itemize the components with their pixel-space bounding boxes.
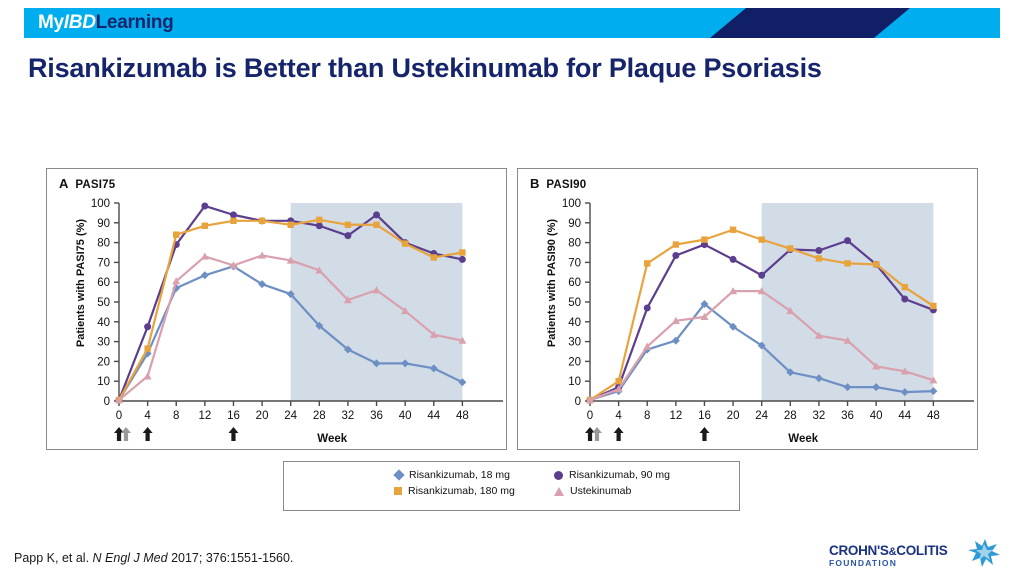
svg-text:20: 20 <box>97 356 110 368</box>
legend-item-ustekinumab: Ustekinumab <box>554 485 719 497</box>
citation-details: 2017; 376:1551-1560. <box>171 551 293 565</box>
legend-label: Risankizumab, 18 mg <box>409 469 510 481</box>
svg-text:40: 40 <box>399 410 412 422</box>
svg-text:60: 60 <box>568 277 581 289</box>
svg-text:0: 0 <box>104 396 110 408</box>
svg-text:8: 8 <box>173 410 179 422</box>
svg-text:90: 90 <box>568 218 581 230</box>
svg-text:44: 44 <box>898 410 911 422</box>
dose-arrow-icon <box>121 427 131 441</box>
svg-text:100: 100 <box>91 198 110 210</box>
svg-text:24: 24 <box>755 410 768 422</box>
footer-logo-text: CROHN'S&COLITIS FOUNDATION <box>829 544 947 567</box>
square-marker-icon <box>394 487 402 495</box>
svg-text:50: 50 <box>568 297 581 309</box>
dose-arrow-icon <box>143 427 153 441</box>
svg-text:40: 40 <box>870 410 883 422</box>
svg-text:36: 36 <box>370 410 383 422</box>
legend-item-risankizumab-90mg: Risankizumab, 90 mg <box>554 469 719 481</box>
svg-text:20: 20 <box>568 356 581 368</box>
legend-entries: Risankizumab, 18 mg Risankizumab, 90 mg … <box>394 469 719 497</box>
svg-text:32: 32 <box>342 410 355 422</box>
svg-text:8: 8 <box>644 410 650 422</box>
svg-text:60: 60 <box>97 277 110 289</box>
panel-a-plot: 0102030405060708090100048121620242832364… <box>47 169 508 451</box>
dose-arrow-icon <box>228 427 238 441</box>
svg-text:12: 12 <box>198 410 211 422</box>
svg-text:90: 90 <box>97 218 110 230</box>
svg-text:28: 28 <box>313 410 326 422</box>
citation-journal: N Engl J Med <box>93 551 168 565</box>
header-navy-accent-shape <box>710 8 910 38</box>
svg-text:80: 80 <box>568 238 581 250</box>
svg-text:0: 0 <box>116 410 122 422</box>
chart-panel-pasi90: BPASI90 Patients with PASI90 (%) 0102030… <box>517 168 978 450</box>
page-title: Risankizumab is Better than Ustekinumab … <box>28 52 908 86</box>
svg-text:36: 36 <box>841 410 854 422</box>
footer-logo-colitis: COLITIS <box>896 543 947 558</box>
svg-text:16: 16 <box>698 410 711 422</box>
header-banner: MyIBDLearning <box>24 8 1000 38</box>
crohns-colitis-foundation-logo: CROHN'S&COLITIS FOUNDATION <box>829 538 1005 572</box>
chart-legend: Risankizumab, 18 mg Risankizumab, 90 mg … <box>283 461 740 511</box>
svg-text:48: 48 <box>927 410 940 422</box>
panel-a-x-axis-label: Week <box>317 433 347 445</box>
svg-text:100: 100 <box>562 198 581 210</box>
svg-text:50: 50 <box>97 297 110 309</box>
dose-arrow-icon <box>114 427 124 441</box>
dose-arrow-icon <box>592 427 602 441</box>
maintenance-period-shading <box>291 203 463 401</box>
svg-text:70: 70 <box>568 257 581 269</box>
svg-text:28: 28 <box>784 410 797 422</box>
brand-logo-learning: Learning <box>96 12 174 33</box>
chart-panel-pasi75: APASI75 Patients with PASI75 (%) 0102030… <box>46 168 507 450</box>
svg-text:10: 10 <box>97 376 110 388</box>
svg-text:20: 20 <box>256 410 269 422</box>
circle-marker-icon <box>554 471 563 480</box>
legend-label: Risankizumab, 90 mg <box>569 469 670 481</box>
svg-text:48: 48 <box>456 410 469 422</box>
diamond-marker-icon <box>393 469 404 480</box>
svg-text:30: 30 <box>97 337 110 349</box>
svg-text:20: 20 <box>727 410 740 422</box>
legend-label: Risankizumab, 180 mg <box>408 485 515 497</box>
svg-text:32: 32 <box>813 410 826 422</box>
footer-logo-line2: FOUNDATION <box>829 559 947 568</box>
svg-text:4: 4 <box>144 410 151 422</box>
svg-text:70: 70 <box>97 257 110 269</box>
legend-label: Ustekinumab <box>570 485 631 497</box>
svg-text:40: 40 <box>568 317 581 329</box>
triangle-marker-icon <box>554 487 564 496</box>
starburst-icon <box>965 538 1001 568</box>
svg-text:0: 0 <box>587 410 593 422</box>
panel-b-x-axis-label: Week <box>788 433 818 445</box>
svg-text:24: 24 <box>284 410 297 422</box>
footer-logo-crohns: CROHN'S <box>829 543 889 558</box>
footer-logo-line1: CROHN'S&COLITIS <box>829 544 947 559</box>
figure-container: APASI75 Patients with PASI75 (%) 0102030… <box>46 168 978 450</box>
citation: Papp K, et al. N Engl J Med 2017; 376:15… <box>14 551 293 565</box>
brand-logo-ibd: IBD <box>64 12 96 33</box>
svg-text:0: 0 <box>575 396 581 408</box>
svg-text:80: 80 <box>97 238 110 250</box>
svg-text:4: 4 <box>615 410 622 422</box>
svg-text:16: 16 <box>227 410 240 422</box>
brand-logo: MyIBDLearning <box>38 12 173 34</box>
legend-item-risankizumab-180mg: Risankizumab, 180 mg <box>394 485 554 497</box>
panel-b-plot: 0102030405060708090100048121620242832364… <box>518 169 979 451</box>
svg-text:30: 30 <box>568 337 581 349</box>
citation-authors: Papp K, et al. <box>14 551 89 565</box>
dose-arrow-icon <box>585 427 595 441</box>
svg-text:44: 44 <box>427 410 440 422</box>
legend-item-risankizumab-18mg: Risankizumab, 18 mg <box>394 469 554 481</box>
dose-arrow-icon <box>614 427 624 441</box>
brand-logo-my: My <box>38 12 64 33</box>
svg-text:40: 40 <box>97 317 110 329</box>
svg-text:10: 10 <box>568 376 581 388</box>
svg-text:12: 12 <box>669 410 682 422</box>
dose-arrow-icon <box>699 427 709 441</box>
